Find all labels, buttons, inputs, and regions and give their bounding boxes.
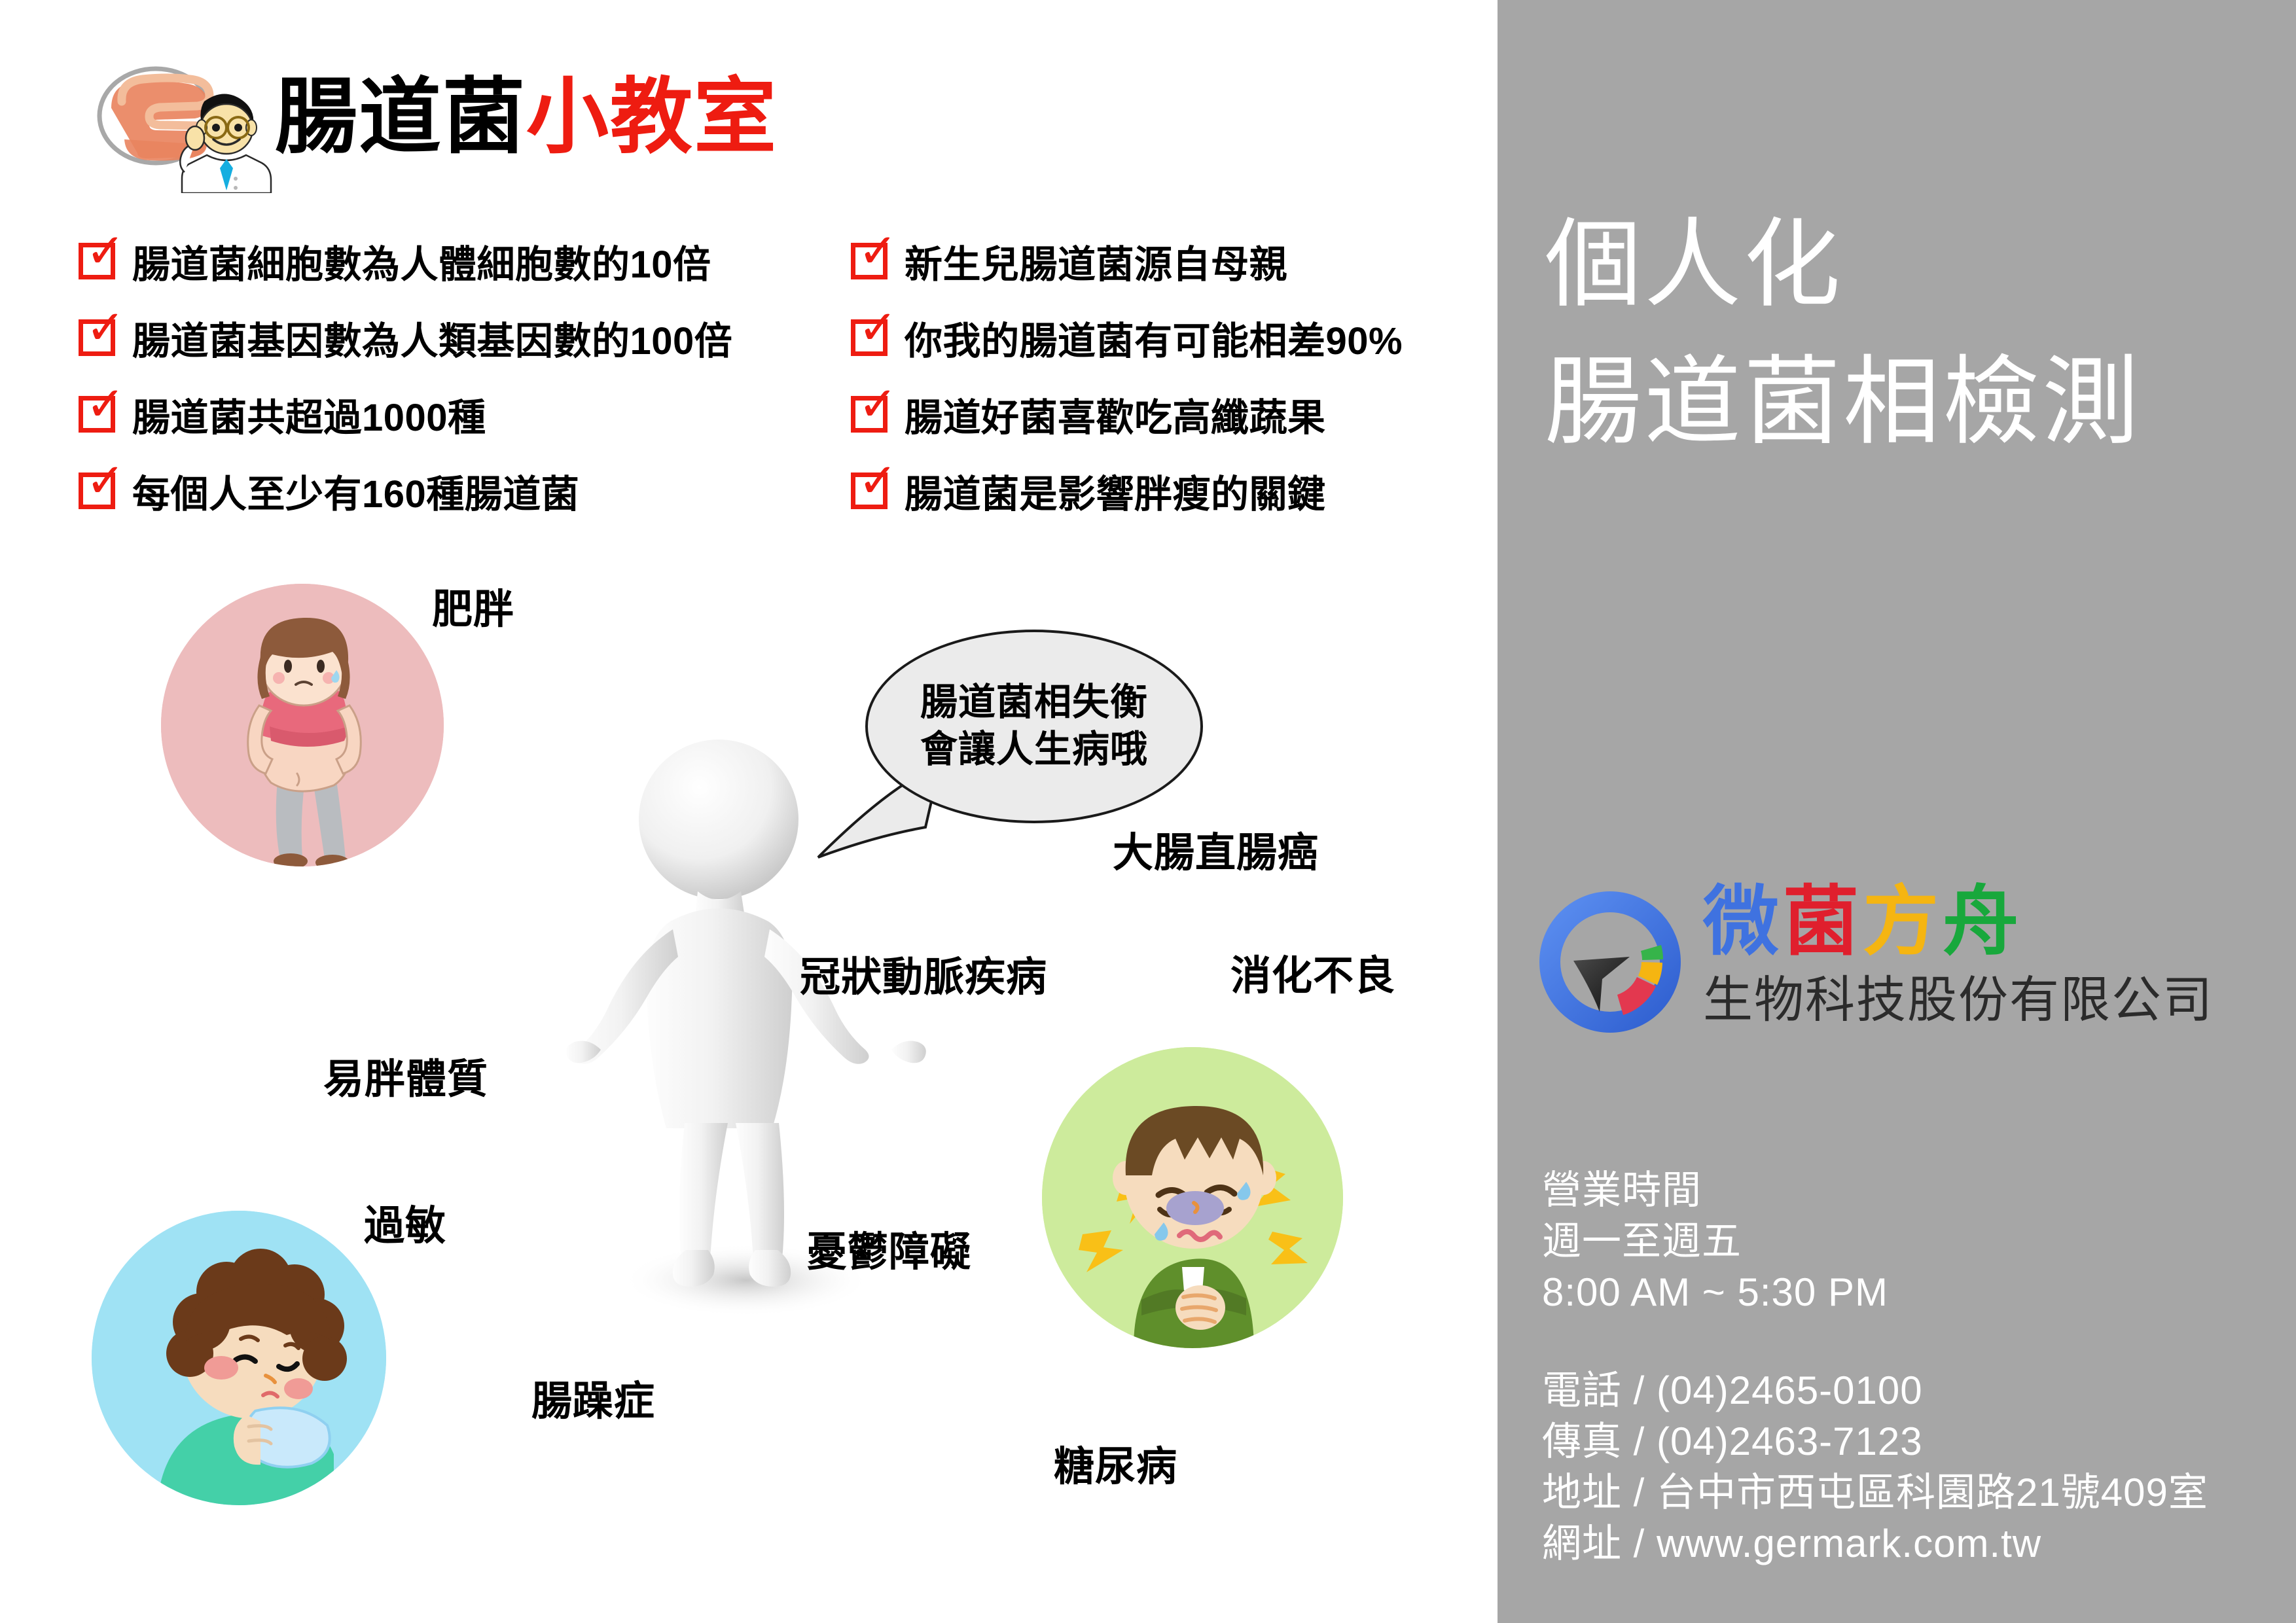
label-obesity: 肥胖 <box>432 576 514 635</box>
checklist-item-label: 你我的腸道菌有可能相差90% <box>905 310 1403 365</box>
contact-website[interactable]: 網址 / www.germark.com.tw <box>1542 1518 2275 1569</box>
page-title: 腸道菌小教室 <box>275 76 778 158</box>
logo-char-2: 菌 <box>1783 877 1863 967</box>
allergy-illustration <box>92 1211 386 1505</box>
speech-bubble: 腸道菌相失衡 會讓人生病哦 <box>865 630 1203 823</box>
check-mark-icon: ✓ <box>858 310 895 346</box>
checkbox-icon[interactable]: ✓ <box>851 396 888 433</box>
poster-canvas: 個人化 腸道菌相檢測 <box>0 0 2296 1623</box>
sidebar-title-line2: 腸道菌相檢測 <box>1545 334 2278 471</box>
speech-bubble-line2: 會讓人生病哦 <box>920 726 1148 774</box>
checklist-item[interactable]: ✓ 每個人至少有160種腸道菌 <box>79 452 759 529</box>
label-allergy: 過敏 <box>364 1192 446 1251</box>
label-colorectal-cancer: 大腸直腸癌 <box>1113 819 1319 878</box>
checkbox-icon[interactable]: ✓ <box>851 473 888 509</box>
checklist-item[interactable]: ✓ 新生兒腸道菌源自母親 <box>851 223 1532 299</box>
page-title-red: 小教室 <box>526 71 778 163</box>
logo-char-3: 方 <box>1863 877 1943 967</box>
check-mark-icon: ✓ <box>86 463 122 499</box>
checklist-item-label: 腸道菌共超過1000種 <box>132 387 486 442</box>
label-indigestion: 消化不良 <box>1230 942 1395 1001</box>
page-header: 腸道菌小教室 <box>79 59 995 183</box>
checklist-item-label: 新生兒腸道菌源自母親 <box>905 234 1287 289</box>
checklist-item[interactable]: ✓ 腸道菌是影響胖瘦的關鍵 <box>851 452 1532 529</box>
checkbox-icon[interactable]: ✓ <box>79 243 115 279</box>
checklist-item-label: 腸道好菌喜歡吃高纖蔬果 <box>905 387 1326 442</box>
check-mark-icon: ✓ <box>86 386 122 423</box>
checklist-item[interactable]: ✓ 腸道菌基因數為人類基因數的100倍 <box>79 299 759 376</box>
checklist-column-right: ✓ 新生兒腸道菌源自母親 ✓ 你我的腸道菌有可能相差90% ✓ 腸道好菌喜歡吃高… <box>851 223 1532 529</box>
contact-address: 地址 / 台中市西屯區科園路21號409室 <box>1542 1467 2275 1518</box>
contact-info: 營業時間 週一至週五 8:00 AM ~ 5:30 PM 電話 / (04)24… <box>1542 1165 2275 1569</box>
checklist-item[interactable]: ✓ 腸道好菌喜歡吃高纖蔬果 <box>851 376 1532 452</box>
checkbox-icon[interactable]: ✓ <box>851 243 888 279</box>
germark-ring-icon <box>1532 883 1689 1041</box>
checklist-item-label: 腸道菌基因數為人類基因數的100倍 <box>132 310 732 365</box>
business-hours-time: 8:00 AM ~ 5:30 PM <box>1542 1267 2275 1318</box>
label-easy-weight-gain: 易胖體質 <box>323 1046 488 1105</box>
logo-wordmark: 微菌方舟 生物科技股份有限公司 <box>1703 877 2266 1030</box>
logo-subtitle: 生物科技股份有限公司 <box>1703 971 2266 1030</box>
checklist-item[interactable]: ✓ 你我的腸道菌有可能相差90% <box>851 299 1532 376</box>
doctor-intestine-icon <box>85 62 275 193</box>
indigestion-illustration <box>1042 1047 1343 1348</box>
sidebar-title: 個人化 腸道菌相檢測 <box>1545 196 2278 471</box>
speech-bubble-line1: 腸道菌相失衡 <box>920 679 1148 726</box>
checkbox-icon[interactable]: ✓ <box>79 473 115 509</box>
business-hours-label: 營業時間 <box>1542 1165 2275 1216</box>
label-diabetes: 糖尿病 <box>1054 1433 1177 1492</box>
checkbox-icon[interactable]: ✓ <box>79 319 115 356</box>
checklist-item-label: 腸道菌是影響胖瘦的關鍵 <box>905 463 1326 518</box>
obesity-illustration <box>161 584 444 866</box>
label-coronary-artery-disease: 冠狀動脈疾病 <box>800 944 1047 1003</box>
checklist-item-label: 腸道菌細胞數為人體細胞數的10倍 <box>132 234 711 289</box>
check-mark-icon: ✓ <box>86 233 122 270</box>
contact-spacer <box>1542 1318 2275 1365</box>
contact-fax: 傳真 / (04)2463-7123 <box>1542 1416 2275 1467</box>
check-mark-icon: ✓ <box>858 463 895 499</box>
checklist-item-label: 每個人至少有160種腸道菌 <box>132 463 579 518</box>
label-depression: 憂鬱障礙 <box>806 1219 971 1277</box>
business-hours-days: 週一至週五 <box>1542 1216 2275 1267</box>
logo-chinese-name: 微菌方舟 <box>1703 877 2266 967</box>
check-mark-icon: ✓ <box>858 386 895 423</box>
page-title-black: 腸道菌 <box>275 71 526 163</box>
fact-checklist: ✓ 腸道菌細胞數為人體細胞數的10倍 ✓ 腸道菌基因數為人類基因數的100倍 ✓… <box>79 223 1440 530</box>
sidebar-title-line1: 個人化 <box>1545 211 1843 319</box>
label-ibs: 腸躁症 <box>531 1368 655 1427</box>
checklist-item[interactable]: ✓ 腸道菌細胞數為人體細胞數的10倍 <box>79 223 759 299</box>
contact-phone: 電話 / (04)2465-0100 <box>1542 1365 2275 1416</box>
checkbox-icon[interactable]: ✓ <box>79 396 115 433</box>
logo-char-1: 微 <box>1703 877 1783 967</box>
checklist-item[interactable]: ✓ 腸道菌共超過1000種 <box>79 376 759 452</box>
check-mark-icon: ✓ <box>858 233 895 270</box>
logo-char-4: 舟 <box>1943 877 2022 967</box>
company-logo: 微菌方舟 生物科技股份有限公司 <box>1532 877 2271 1047</box>
check-mark-icon: ✓ <box>86 310 122 346</box>
checkbox-icon[interactable]: ✓ <box>851 319 888 356</box>
checklist-column-left: ✓ 腸道菌細胞數為人體細胞數的10倍 ✓ 腸道菌基因數為人類基因數的100倍 ✓… <box>79 223 759 529</box>
